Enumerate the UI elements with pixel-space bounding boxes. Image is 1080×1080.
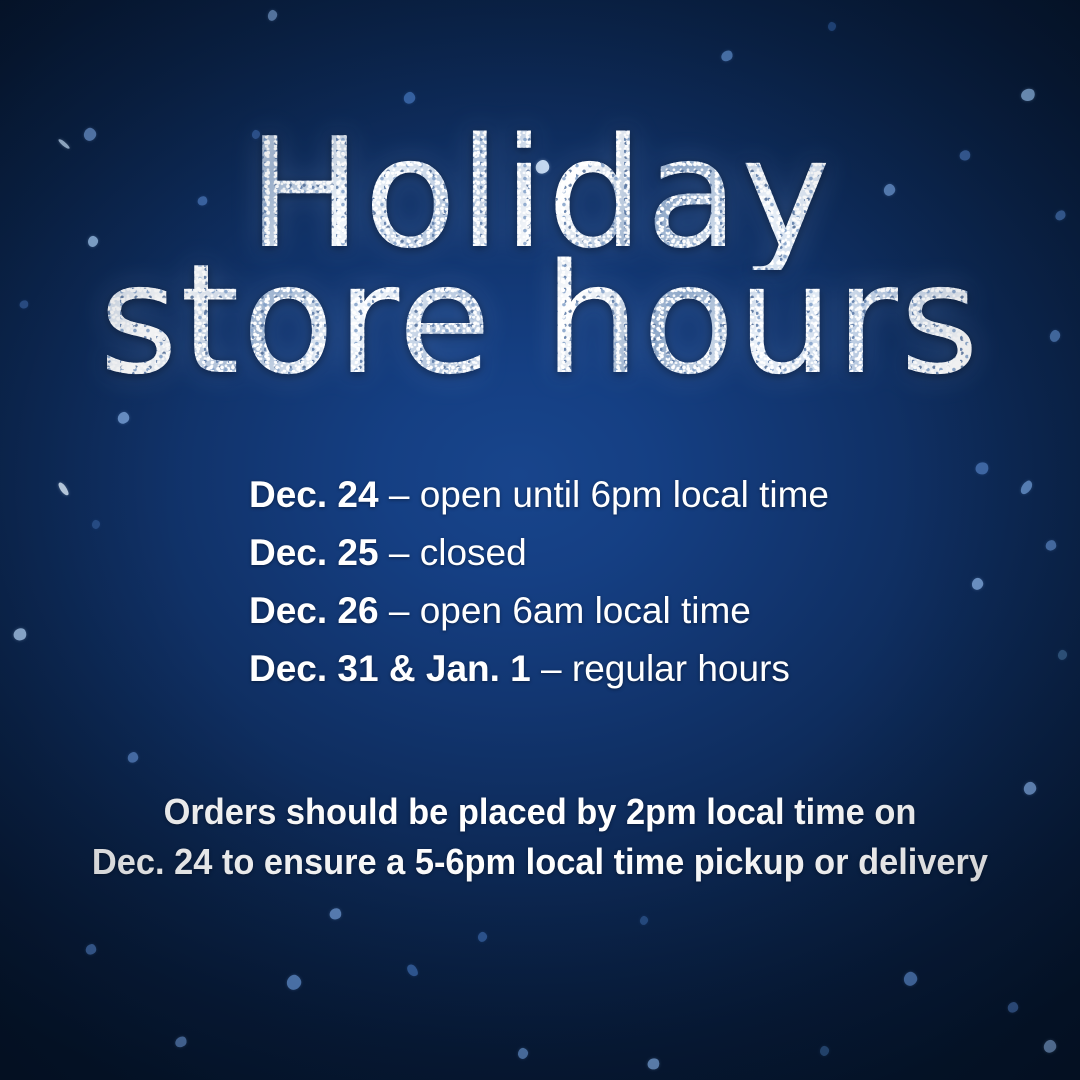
confetti-flake [18,299,30,310]
schedule-row-date: Dec. 31 & Jan. 1 [249,648,531,689]
confetti-flake [958,149,972,163]
confetti-flake [82,126,98,143]
confetti-flake [1057,649,1069,661]
schedule-row-date: Dec. 24 [249,474,379,515]
confetti-flake [91,519,101,529]
confetti-flake [115,410,131,426]
confetti-flake [87,235,100,249]
confetti-flake [533,157,552,176]
schedule-row: Dec. 24 – open until 6pm local time [249,466,1009,524]
confetti-flake [126,750,141,765]
confetti-flake [1048,329,1062,344]
headline: Holiday store hours [0,118,1080,396]
confetti-flake [57,481,71,497]
confetti-flake [266,9,278,22]
confetti-flake [719,48,735,63]
confetti-flake [819,1045,830,1057]
footer-note-line-1: Orders should be placed by 2pm local tim… [24,787,1055,837]
confetti-flake [902,970,920,988]
confetti-flake [196,195,209,208]
confetti-flake [1019,479,1035,496]
confetti-flake [1044,538,1059,553]
confetti-flake [251,129,261,140]
confetti-flake [1019,87,1036,103]
schedule-row-description: – regular hours [531,648,790,689]
confetti-flake [882,182,898,198]
confetti-flake [327,906,343,922]
confetti-flake [1006,1000,1021,1015]
confetti-flake [284,973,304,993]
confetti-flake [173,1034,189,1049]
footer-note: Orders should be placed by 2pm local tim… [0,787,1080,887]
schedule-row: Dec. 31 & Jan. 1 – regular hours [249,640,1009,698]
confetti-flake [11,626,28,643]
headline-line-2: store hours [0,244,1080,396]
footer-note-line-2: Dec. 24 to ensure a 5-6pm local time pic… [24,837,1055,887]
confetti-flake [476,931,488,944]
confetti-flake [646,1057,661,1072]
schedule-row-description: – open until 6pm local time [379,474,829,515]
schedule-row-description: – open 6am local time [379,590,751,631]
confetti-flake [402,90,418,106]
confetti-flake [1053,209,1067,223]
schedule-list: Dec. 24 – open until 6pm local timeDec. … [249,466,1009,698]
schedule-row-date: Dec. 26 [249,590,379,631]
confetti-flake [57,138,70,150]
headline-line-1: Holiday [0,118,1080,270]
confetti-flake [84,942,99,957]
schedule-row-description: – closed [379,532,527,573]
schedule-row-date: Dec. 25 [249,532,379,573]
confetti-flake [827,21,836,31]
confetti-flake [639,915,650,926]
confetti-flake [1041,1038,1058,1056]
schedule-row: Dec. 26 – open 6am local time [249,582,1009,640]
holiday-store-hours-poster: Holiday store hours Dec. 24 – open until… [0,0,1080,1080]
confetti-flake [405,963,420,979]
schedule-row: Dec. 25 – closed [249,524,1009,582]
confetti-flake [517,1047,530,1060]
